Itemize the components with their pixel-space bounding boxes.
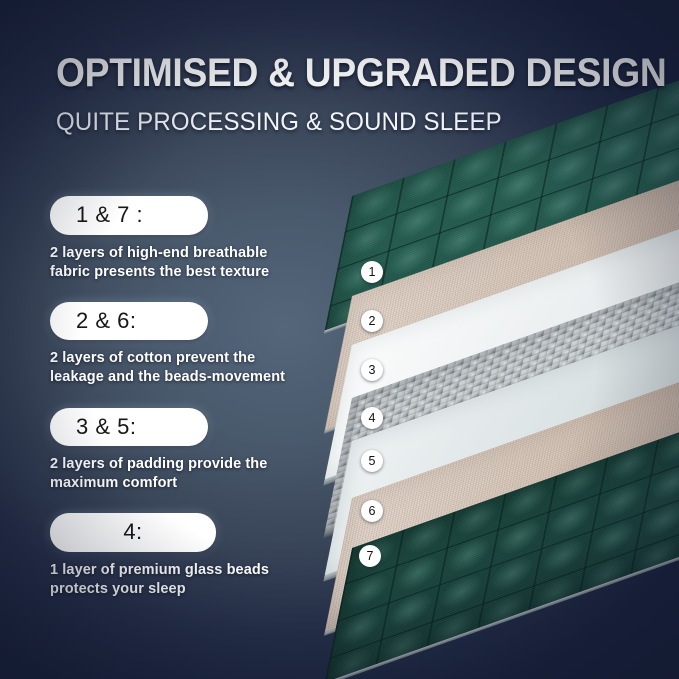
layer-badge-7: 7 (359, 545, 381, 567)
layer-1-edge (324, 187, 679, 334)
header: OPTIMISED & UPGRADED DESIGN QUITE PROCES… (56, 52, 646, 137)
feature-item-3: 3 & 5: 2 layers of padding provide the m… (50, 408, 320, 494)
feature-description-4: 1 layer of premium glass beads protects … (50, 561, 300, 599)
layer-7-edge (324, 539, 679, 679)
diagram-layer-3 (325, 201, 679, 479)
feature-description-1: 2 layers of high-end breathable fabric p… (50, 244, 300, 282)
page-title: OPTIMISED & UPGRADED DESIGN (56, 52, 605, 94)
diagram-layer-7 (325, 404, 679, 679)
layer-5-surface (325, 297, 679, 575)
layer-2-edge (324, 287, 679, 434)
feature-label-badge-2: 2 & 6: (50, 302, 208, 341)
feature-item-2: 2 & 6: 2 layers of cotton prevent the le… (50, 302, 320, 388)
layer-badge-2: 2 (361, 310, 383, 332)
diagram-layer-6 (325, 354, 679, 632)
feature-list: 1 & 7 : 2 layers of high-end breathable … (50, 196, 320, 599)
feature-description-2: 2 layers of cotton prevent the leakage a… (50, 349, 300, 387)
layer-6-surface (325, 354, 679, 632)
feature-item-1: 1 & 7 : 2 layers of high-end breathable … (50, 196, 320, 282)
layer-7-surface (325, 404, 679, 679)
layer-badge-3: 3 (361, 359, 383, 381)
diagram-layer-4 (325, 254, 679, 532)
layer-2-surface (325, 152, 679, 430)
feature-label-badge-1: 1 & 7 : (50, 196, 208, 235)
layer-6-edge (324, 489, 679, 636)
layer-3-surface (325, 201, 679, 479)
feature-item-4: 4: 1 layer of premium glass beads protec… (50, 513, 320, 599)
layer-badge-6: 6 (361, 500, 383, 522)
layer-3-edge (323, 336, 679, 486)
layer-badge-1: 1 (361, 261, 383, 283)
infographic-canvas: 1 2 3 4 5 6 7 OPTIMISED & UPGRADED DESIG… (0, 0, 679, 679)
layer-badge-5: 5 (361, 450, 383, 472)
feature-description-3: 2 layers of padding provide the maximum … (50, 455, 300, 493)
feature-label-badge-3: 3 & 5: (50, 408, 208, 447)
layer-4-surface (325, 254, 679, 532)
page-subtitle: QUITE PROCESSING & SOUND SLEEP (56, 108, 622, 137)
diagram-layer-5 (325, 297, 679, 575)
diagram-layer-2 (325, 152, 679, 430)
feature-label-badge-4: 4: (50, 513, 216, 552)
layer-5-edge (323, 432, 679, 582)
layer-badge-4: 4 (361, 407, 383, 429)
layer-4-edge (323, 389, 679, 539)
